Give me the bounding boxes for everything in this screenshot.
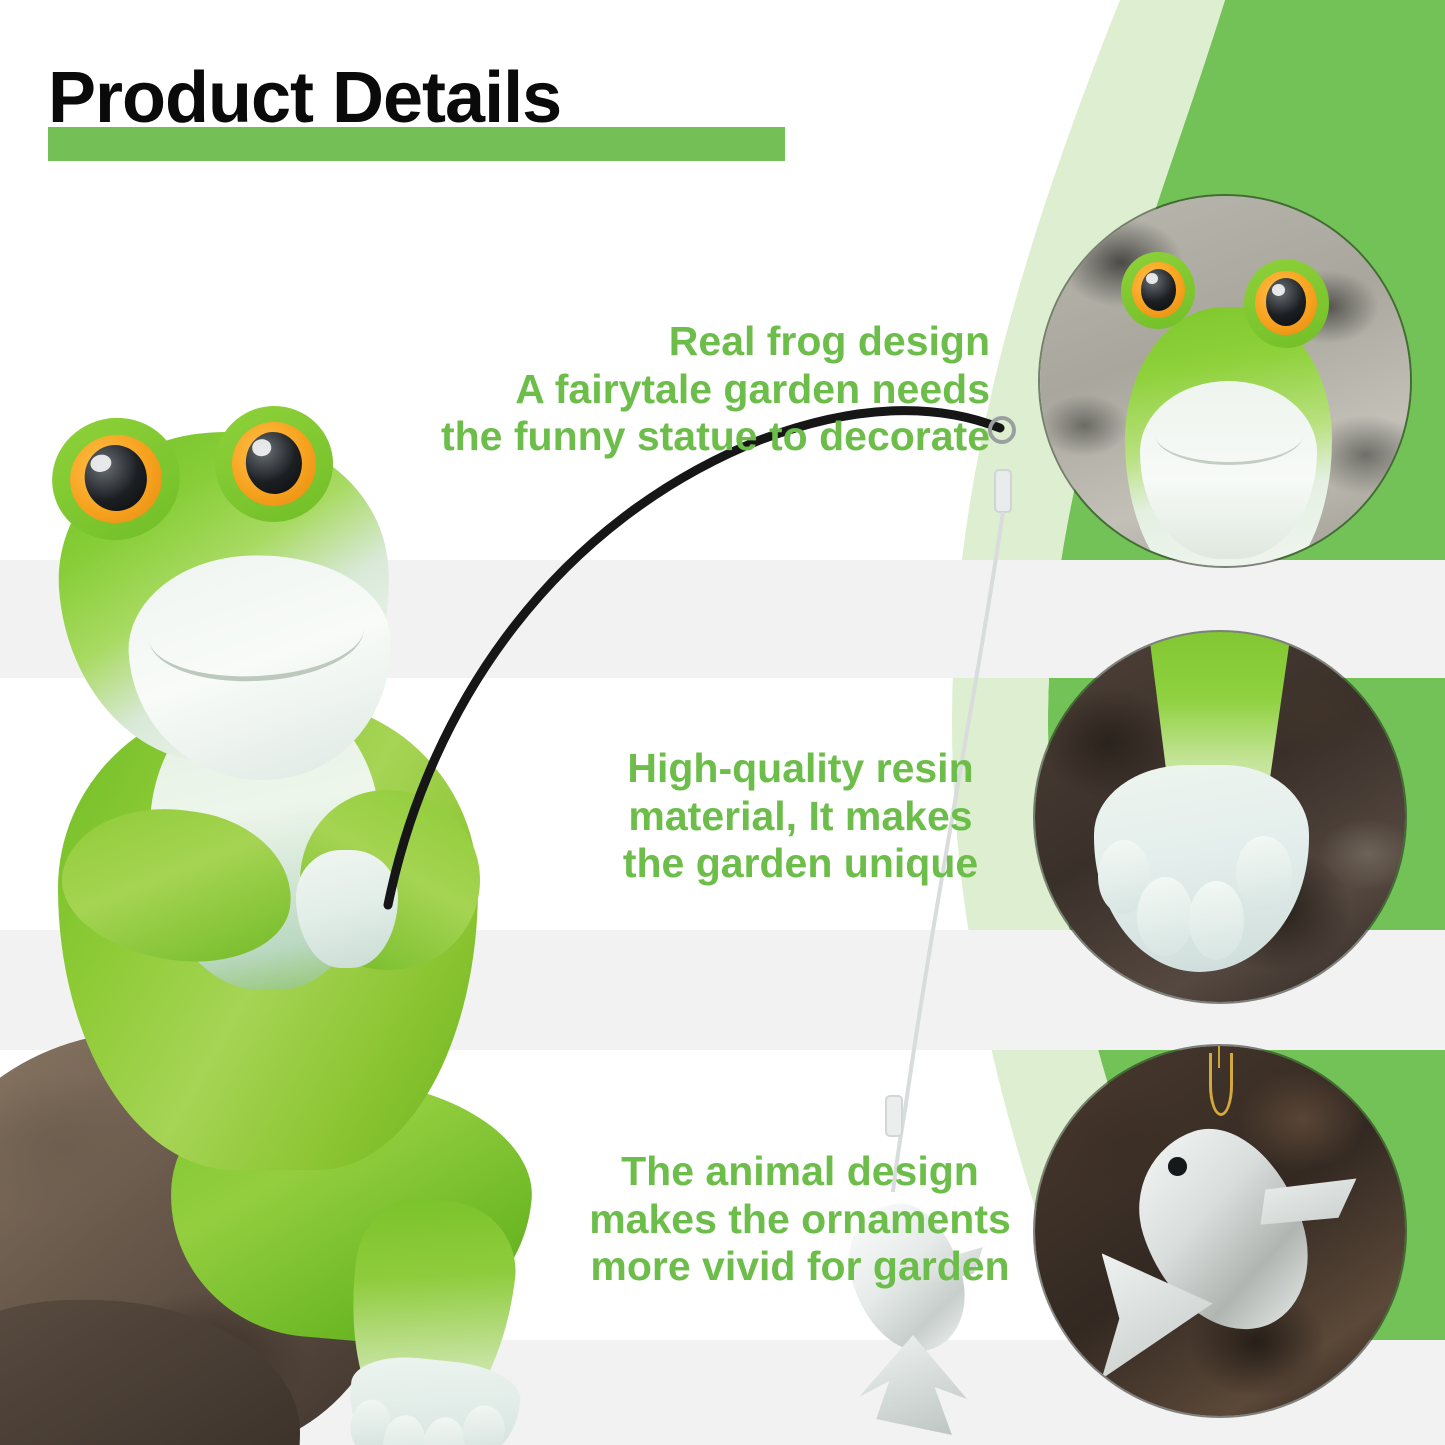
feature-line: the funny statue to decorate <box>441 413 990 461</box>
feature-line: The animal design <box>570 1148 1030 1196</box>
feature-text-high-quality-resin: High-quality resin material, It makes th… <box>598 745 1003 888</box>
feature-line: more vivid for garden <box>570 1243 1030 1291</box>
feature-line: makes the ornaments <box>570 1196 1030 1244</box>
feature-line: the garden unique <box>598 840 1003 888</box>
inset-photo-frog-foot <box>1035 632 1405 1002</box>
feature-line: High-quality resin <box>598 745 1003 793</box>
page-title-group: Product Details <box>48 62 561 134</box>
frog-webbed-foot <box>342 1351 523 1445</box>
page-title: Product Details <box>48 62 561 134</box>
frog-statue-photo <box>0 340 640 1445</box>
fish-eye <box>1168 1157 1187 1176</box>
inset-photo-frog-face <box>1040 196 1410 566</box>
inset-photo-fish-ornament <box>1035 1046 1405 1416</box>
infographic-canvas: Product Details <box>0 0 1445 1445</box>
feature-text-real-frog-design: Real frog design A fairytale garden need… <box>441 318 990 461</box>
frog-right-eye-closeup <box>1244 259 1329 348</box>
feature-line: A fairytale garden needs <box>441 366 990 414</box>
feature-line: material, It makes <box>598 793 1003 841</box>
frog-left-eye-closeup <box>1121 252 1195 330</box>
feature-text-animal-design: The animal design makes the ornaments mo… <box>570 1148 1030 1291</box>
gold-hook-icon <box>1209 1053 1234 1115</box>
feature-line: Real frog design <box>441 318 990 366</box>
fish-tail <box>859 1335 967 1435</box>
